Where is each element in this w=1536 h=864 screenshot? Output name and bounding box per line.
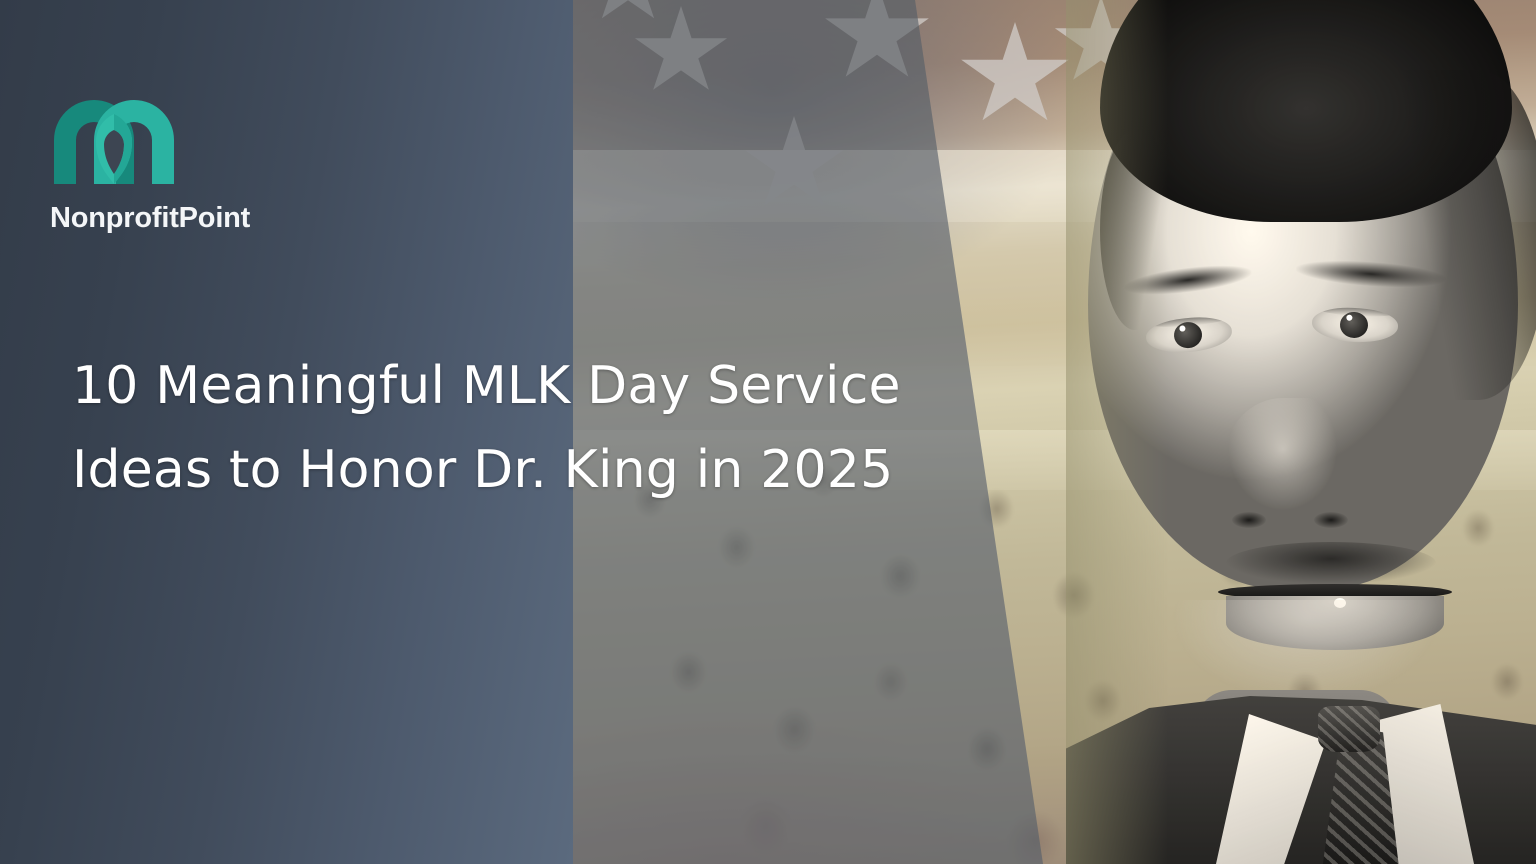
brand-name: NonprofitPoint (50, 202, 310, 235)
brand-logo[interactable]: NonprofitPoint (50, 92, 310, 235)
hero-banner: NonprofitPoint 10 Meaningful MLK Day Ser… (0, 0, 1536, 864)
headline-line-1: 10 Meaningful MLK Day Service (72, 344, 972, 428)
page-title: 10 Meaningful MLK Day Service Ideas to H… (72, 344, 972, 512)
headline-line-2: Ideas to Honor Dr. King in 2025 (72, 428, 972, 512)
mlk-portrait (1066, 0, 1536, 864)
nonprofitpoint-m-monogram-icon (50, 92, 178, 184)
